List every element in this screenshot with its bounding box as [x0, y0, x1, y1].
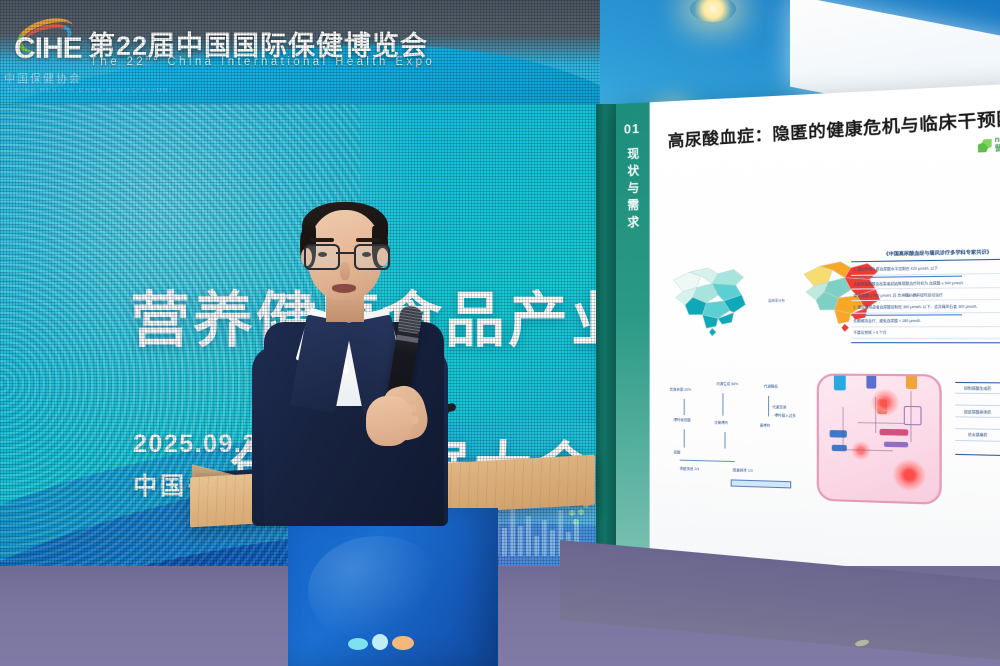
- banner-title-en: The 22nd China International Health Expo: [90, 55, 435, 68]
- banner-title-en-rest: China International Health Expo: [167, 56, 435, 68]
- pathway-node: 尿酸: [674, 449, 681, 454]
- consensus-table: 《中国高尿酸血症与痛风诊疗多学科专家共识》 1. 建议所有人群血尿酸水平控制在 …: [851, 249, 1000, 371]
- pathway-node: 内源生成 80%: [716, 381, 738, 386]
- glasses-lens: [304, 244, 340, 270]
- podium-logo: [348, 630, 426, 660]
- pathway-bar: [731, 479, 792, 488]
- china-map-svg: [664, 253, 762, 338]
- crystal-burst-icon: [851, 441, 871, 460]
- pathway-node: 肾脏排泄 2/3: [680, 466, 699, 472]
- pathway-note: 代谢异常: [772, 404, 786, 409]
- speaker-hand-left: [366, 396, 412, 446]
- inflammasome-chip: [880, 429, 909, 436]
- cell-signaling-diagram: [817, 373, 942, 504]
- speaker-person: [246, 196, 526, 526]
- cell-drug-class: [955, 443, 1000, 449]
- transporter-icon: [906, 373, 917, 389]
- cell-drug-class: 抗炎镇痛药: [955, 431, 1000, 437]
- presentation-slide: 01 现状与需求 高尿酸血症：隐匿的健康危机与临床干预困境 nutra 营养: [616, 83, 1000, 595]
- cell-drug-class: [955, 420, 1000, 426]
- transporter-icon: [866, 373, 876, 388]
- mic-mesh-head: [397, 305, 423, 334]
- crystal-burst-icon: [893, 459, 926, 492]
- pathway-node: 代谢酶系: [764, 383, 778, 388]
- table-row: 长期维持治疗，避免血尿酸 < 180 µmol/L: [851, 315, 1000, 328]
- leaf-icon: [977, 139, 991, 152]
- mic-band: [396, 335, 419, 343]
- table-row: 或 血尿酸 ≥ 480 µmol/L 且 合并任一合并症时启动治疗: [851, 288, 1000, 302]
- table-row: 1. 建议所有人群血尿酸水平控制在 420 µmol/L 以下: [851, 261, 1000, 275]
- association-name-cn: 中国保健协会: [4, 70, 82, 86]
- slide-canvas: 01 现状与需求 高尿酸血症：隐匿的健康危机与临床干预困境 nutra 营养: [616, 83, 1000, 595]
- pathway-chip: [830, 430, 847, 438]
- table-row: 不建议常规 > 6 个月: [851, 327, 1000, 339]
- slide-title: 高尿酸血症：隐匿的健康危机与临床干预困境: [667, 102, 1000, 152]
- pathway-node: 次黄嘌呤: [714, 420, 728, 425]
- treatment-table-title: 现有一线治疗药物: [955, 372, 1000, 380]
- cell-drug-class: 抑制尿酸生成药: [955, 385, 1000, 391]
- glasses-bridge: [336, 252, 354, 254]
- pathway-node: 饮食来源 20%: [670, 387, 691, 392]
- speaker-eyebrow: [310, 238, 334, 242]
- banner-title-en-sup: nd: [146, 55, 161, 62]
- pathway-chip: [832, 445, 847, 452]
- podium-body: [288, 508, 498, 666]
- map-legend-left: 患病率分布: [768, 299, 785, 304]
- speaker-mouth: [332, 284, 356, 293]
- pathway-node: 肠道排泄 1/3: [733, 467, 753, 473]
- legend-caption: 患病率分布: [768, 299, 785, 304]
- pathway-chip: [884, 442, 908, 448]
- pathway-node: 黄嘌呤: [760, 423, 771, 428]
- cell-drug-class: [955, 397, 1000, 403]
- treatment-options-table: 现有一线治疗药物 抑制尿酸生成药 别嘌醇 皮疹 / HLA-B*5801 相关风…: [955, 372, 1000, 494]
- transporter-icon: [834, 373, 846, 390]
- slide-brand-line1: nutra: [995, 136, 1000, 145]
- table-row: 2. 建议痛风患者血尿酸控制在 360 µmol/L 以下，合并痛风石者 300…: [851, 300, 1000, 313]
- cell-drug-class: 促进尿酸排泄药: [955, 408, 1000, 414]
- slide-brand-text: nutra 营养: [995, 136, 1000, 153]
- association-name-en: CHINA HEALTH CARE ASSOCIATION: [8, 88, 169, 94]
- speaker-nose: [340, 262, 350, 280]
- slide-section-label: 现状与需求: [625, 147, 642, 233]
- event-banner: CIHE 中国保健协会 CHINA HEALTH CARE ASSOCIATIO…: [0, 0, 600, 112]
- pathway-node: 嘌呤核苷酸: [674, 417, 691, 422]
- slide-brand-logo: nutra 营养: [977, 136, 1000, 154]
- slide-section-number: 01: [624, 121, 640, 137]
- slide-brand-line2: 营养: [995, 144, 1000, 153]
- screen-divider: [596, 104, 618, 574]
- cihe-logo-text: CIHE: [14, 32, 82, 66]
- pathway-note: · 嘌呤摄入过多: [772, 412, 796, 418]
- metabolic-pathway-diagram: 饮食来源 20% 内源生成 80% 代谢酶系 嘌呤核苷酸 次黄嘌呤 黄嘌呤 尿酸…: [670, 380, 815, 506]
- banner-title-en-prefix: The 22: [90, 56, 146, 68]
- china-map-prevalence: [664, 253, 762, 338]
- cihe-logo: CIHE: [14, 20, 90, 68]
- speaker-eyebrow: [356, 238, 380, 242]
- conference-stage-photo: CIHE 中国保健协会 CHINA HEALTH CARE ASSOCIATIO…: [0, 0, 1000, 666]
- table-row: 非甾体抗炎药 消化道出血: [955, 440, 1000, 454]
- glasses-lens: [354, 244, 390, 270]
